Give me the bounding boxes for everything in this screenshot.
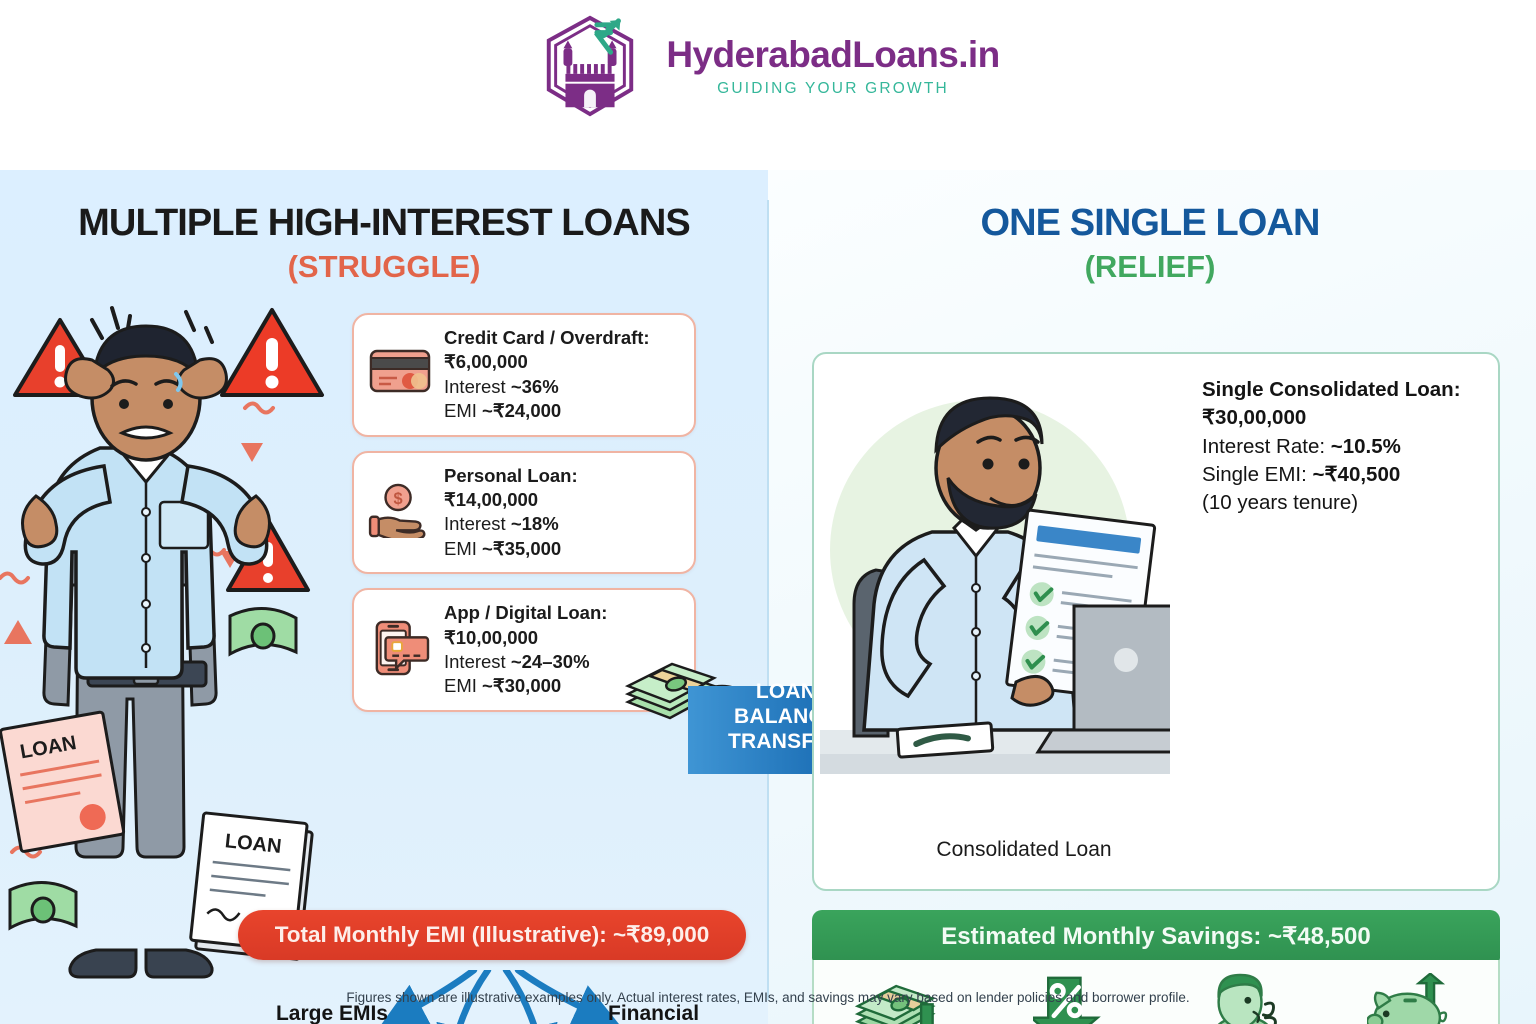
consolidated-emi-value: ~₹40,500 — [1313, 463, 1401, 486]
loan-card-title: Personal Loan: — [444, 464, 578, 488]
loan-card-interest-value: ~24–30% — [511, 651, 590, 672]
consolidated-rate-value: ~10.5% — [1331, 435, 1401, 458]
consolidated-emi-label: Single EMI: — [1202, 463, 1313, 486]
estimated-savings-banner: Estimated Monthly Savings: ~₹48,500 — [812, 910, 1500, 962]
consolidated-loan-box: Consolidated Loan Single Consolidated Lo… — [812, 352, 1500, 891]
stressed-man-illustration: LOAN LOAN — [0, 290, 350, 1010]
consolidated-loan-title: Single Consolidated Loan: — [1202, 376, 1492, 404]
consequence-large-emis: Large EMIs — [258, 1002, 388, 1024]
loan-card-emi-label: EMI — [444, 400, 482, 421]
consolidated-tenure: (10 years tenure) — [1202, 489, 1492, 517]
brand-text: HyderabadLoans.in GUIDING YOUR GROWTH — [666, 36, 999, 99]
loan-card-title: Credit Card / Overdraft: — [444, 326, 650, 350]
illustration-caption: Consolidated Loan — [814, 838, 1234, 862]
loan-card-amount: ₹10,00,000 — [444, 626, 607, 650]
footer-disclaimer: Figures shown are illustrative examples … — [0, 990, 1536, 1005]
struggle-heading: MULTIPLE HIGH-INTEREST LOANS (STRUGGLE) — [24, 202, 744, 285]
hand-holding-coin-icon: $ — [368, 482, 432, 542]
struggle-heading-main: MULTIPLE HIGH-INTEREST LOANS — [24, 202, 744, 245]
loan-card-emi-value: ~₹30,000 — [482, 675, 561, 696]
charminar-hexagon-rupee-arrow-icon — [536, 13, 644, 121]
mobile-app-loan-icon — [368, 620, 432, 680]
loan-card-personal-loan[interactable]: $ Personal Loan: ₹14,00,000 Interest ~18… — [352, 451, 696, 575]
loan-card-title: App / Digital Loan: — [444, 601, 607, 625]
loan-card-interest-label: Interest — [444, 513, 511, 534]
loan-card-text: App / Digital Loan: ₹10,00,000 Interest … — [444, 601, 607, 699]
loan-card-emi-value: ~₹35,000 — [482, 538, 561, 559]
loan-card-emi-label: EMI — [444, 675, 482, 696]
brand-title: HyderabadLoans.in — [666, 36, 999, 75]
loan-card-amount: ₹14,00,000 — [444, 488, 578, 512]
consolidated-loan-amount: ₹30,00,000 — [1202, 404, 1492, 432]
header: HyderabadLoans.in GUIDING YOUR GROWTH — [0, 0, 1536, 170]
svg-text:$: $ — [394, 491, 403, 509]
loan-card-emi-label: EMI — [444, 538, 482, 559]
loan-card-credit-card[interactable]: Credit Card / Overdraft: ₹6,00,000 Inter… — [352, 313, 696, 437]
loan-card-interest-label: Interest — [444, 651, 511, 672]
infographic-page: HyderabadLoans.in GUIDING YOUR GROWTH MU… — [0, 0, 1536, 1024]
brand-tagline: GUIDING YOUR GROWTH — [717, 80, 949, 98]
credit-card-icon — [368, 345, 432, 405]
loan-card-text: Credit Card / Overdraft: ₹6,00,000 Inter… — [444, 326, 650, 424]
relief-content: Consolidated Loan Single Consolidated Lo… — [768, 170, 1536, 1024]
comparison-body: MULTIPLE HIGH-INTEREST LOANS (STRUGGLE) … — [0, 170, 1536, 1024]
consequence-financial-stress: Financial stress — [608, 1002, 718, 1024]
loan-card-amount: ₹6,00,000 — [444, 350, 650, 374]
struggle-heading-sub: (STRUGGLE) — [24, 249, 744, 285]
brand-logo: HyderabadLoans.in GUIDING YOUR GROWTH — [536, 13, 999, 121]
loan-card-interest-value: ~36% — [511, 376, 559, 397]
loan-card-interest-label: Interest — [444, 376, 511, 397]
consolidated-loan-details: Single Consolidated Loan: ₹30,00,000 Int… — [1202, 376, 1492, 517]
consolidated-rate-label: Interest Rate: — [1202, 435, 1331, 458]
loan-card-text: Personal Loan: ₹14,00,000 Interest ~18% … — [444, 464, 578, 562]
total-emi-banner: Total Monthly EMI (Illustrative): ~₹89,0… — [238, 910, 746, 960]
happy-man-laptop-illustration — [820, 360, 1170, 820]
loan-card-interest-value: ~18% — [511, 513, 559, 534]
loan-card-emi-value: ~₹24,000 — [482, 400, 561, 421]
